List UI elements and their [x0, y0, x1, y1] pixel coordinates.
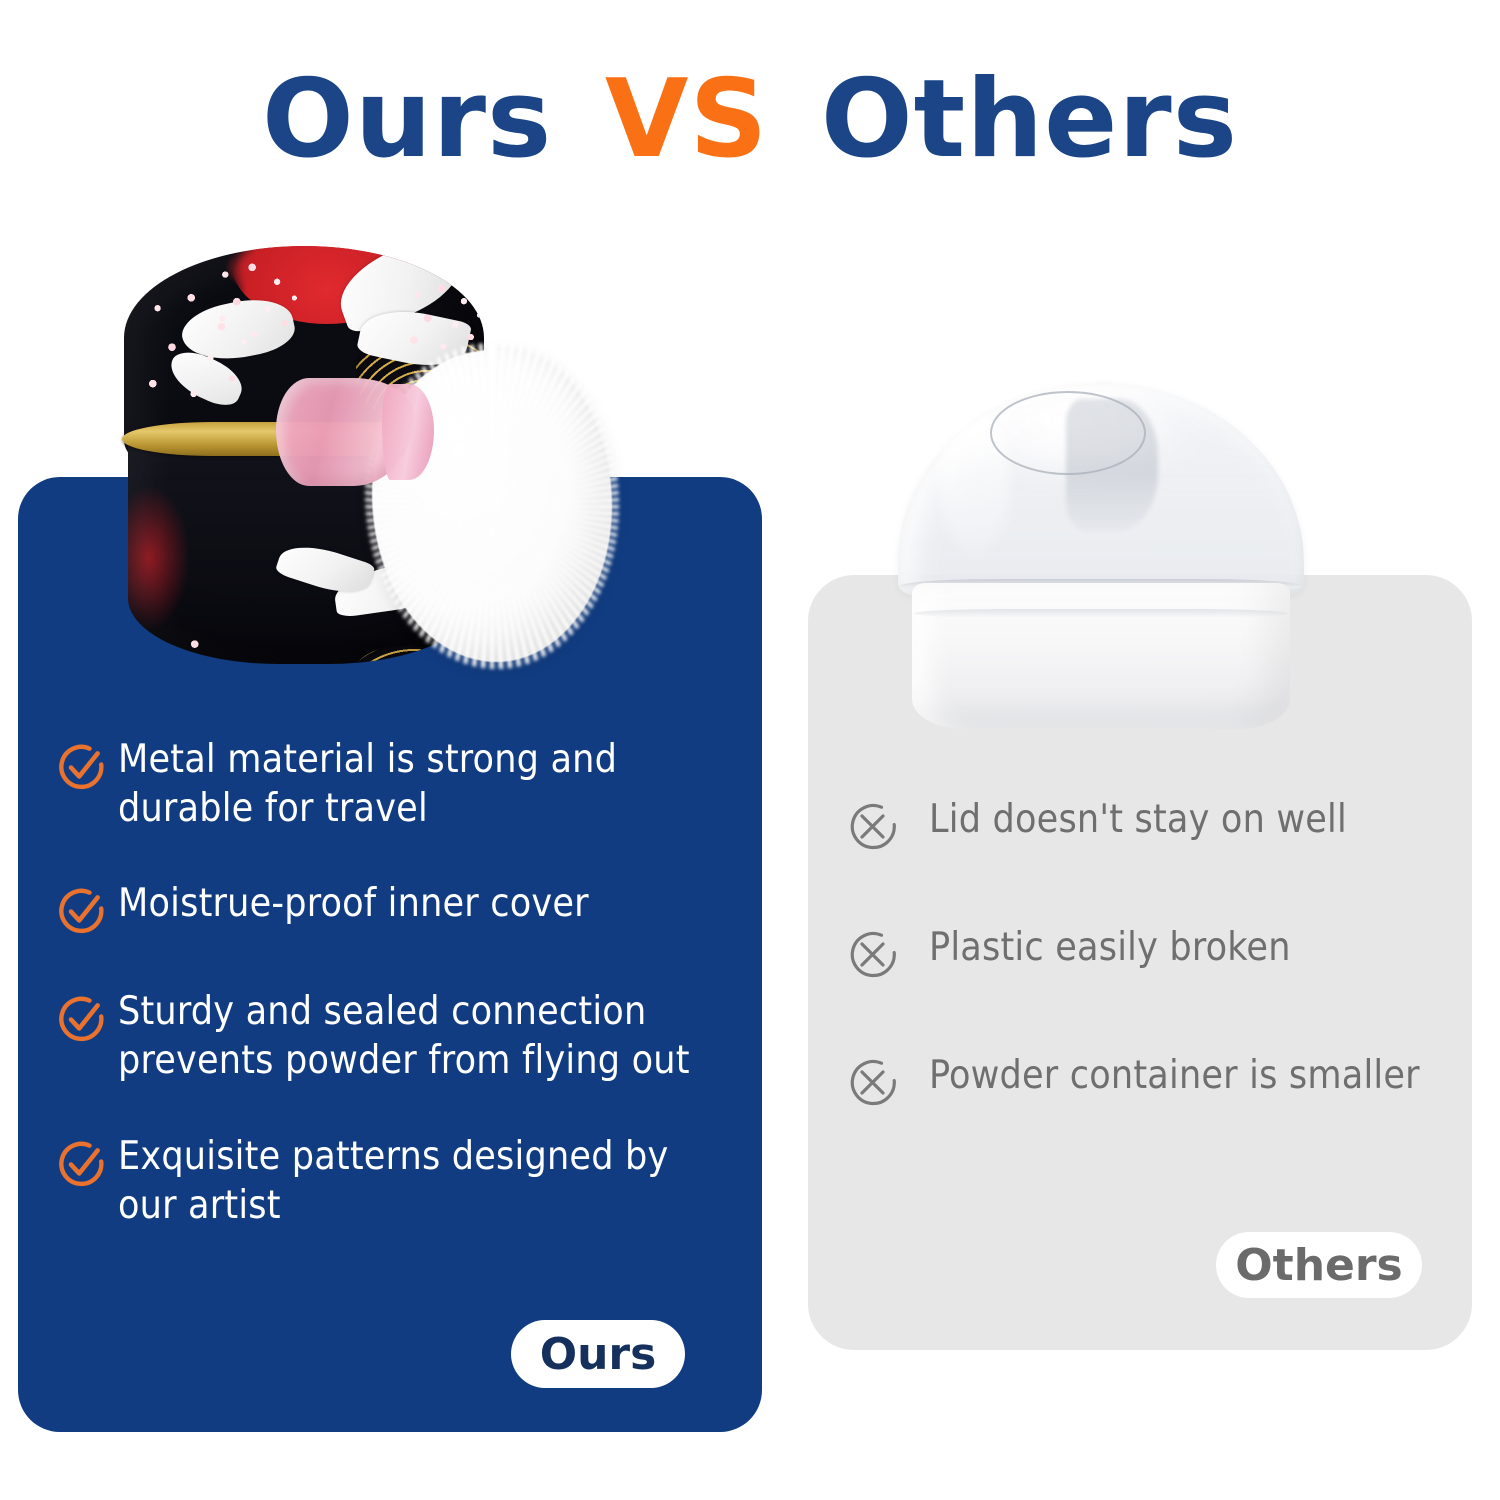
list-item-label: Sturdy and sealed connection prevents po…	[118, 987, 736, 1085]
ours-benefit-list: Metal material is strong and durable for…	[56, 735, 736, 1230]
list-item: Moistrue-proof inner cover	[56, 879, 736, 941]
check-circle-icon	[56, 735, 118, 797]
title-others-word: Others	[821, 57, 1238, 182]
list-item: Sturdy and sealed connection prevents po…	[56, 987, 736, 1085]
title-ours-word: Ours	[262, 57, 552, 182]
cherry-blossom-motif	[134, 634, 266, 664]
others-drawback-list: Lid doesn't stay on well Plastic easily …	[845, 795, 1465, 1115]
list-item-label: Powder container is smaller	[929, 1051, 1420, 1100]
page-title: Ours VS Others	[0, 58, 1500, 182]
list-item-label: Exquisite patterns designed by our artis…	[118, 1132, 736, 1230]
ours-product-image	[80, 232, 760, 680]
x-circle-icon	[845, 923, 929, 987]
list-item: Powder container is smaller	[845, 1051, 1465, 1115]
title-vs-word: VS	[591, 57, 782, 182]
ours-badge: Ours	[511, 1320, 685, 1388]
cherry-blossom-motif	[208, 262, 304, 352]
list-item: Metal material is strong and durable for…	[56, 735, 736, 833]
list-item-label: Moistrue-proof inner cover	[118, 879, 589, 928]
x-circle-icon	[845, 1051, 929, 1115]
list-item-label: Lid doesn't stay on well	[929, 795, 1347, 844]
check-circle-icon	[56, 987, 118, 1049]
list-item: Plastic easily broken	[845, 923, 1465, 987]
x-circle-icon	[845, 795, 929, 859]
list-item: Exquisite patterns designed by our artis…	[56, 1132, 736, 1230]
jar-base	[912, 583, 1290, 729]
others-badge: Others	[1216, 1232, 1422, 1298]
list-item: Lid doesn't stay on well	[845, 795, 1465, 859]
dome-top-ring	[990, 391, 1146, 475]
cherry-blossom-motif	[334, 660, 452, 664]
check-circle-icon	[56, 879, 118, 941]
list-item-label: Plastic easily broken	[929, 923, 1291, 972]
others-product-image	[888, 383, 1316, 733]
puff-handle-flare	[382, 384, 434, 480]
clear-dome-lid	[898, 383, 1304, 595]
check-circle-icon	[56, 1132, 118, 1194]
jar-base-rib	[914, 609, 1288, 618]
list-item-label: Metal material is strong and durable for…	[118, 735, 736, 833]
